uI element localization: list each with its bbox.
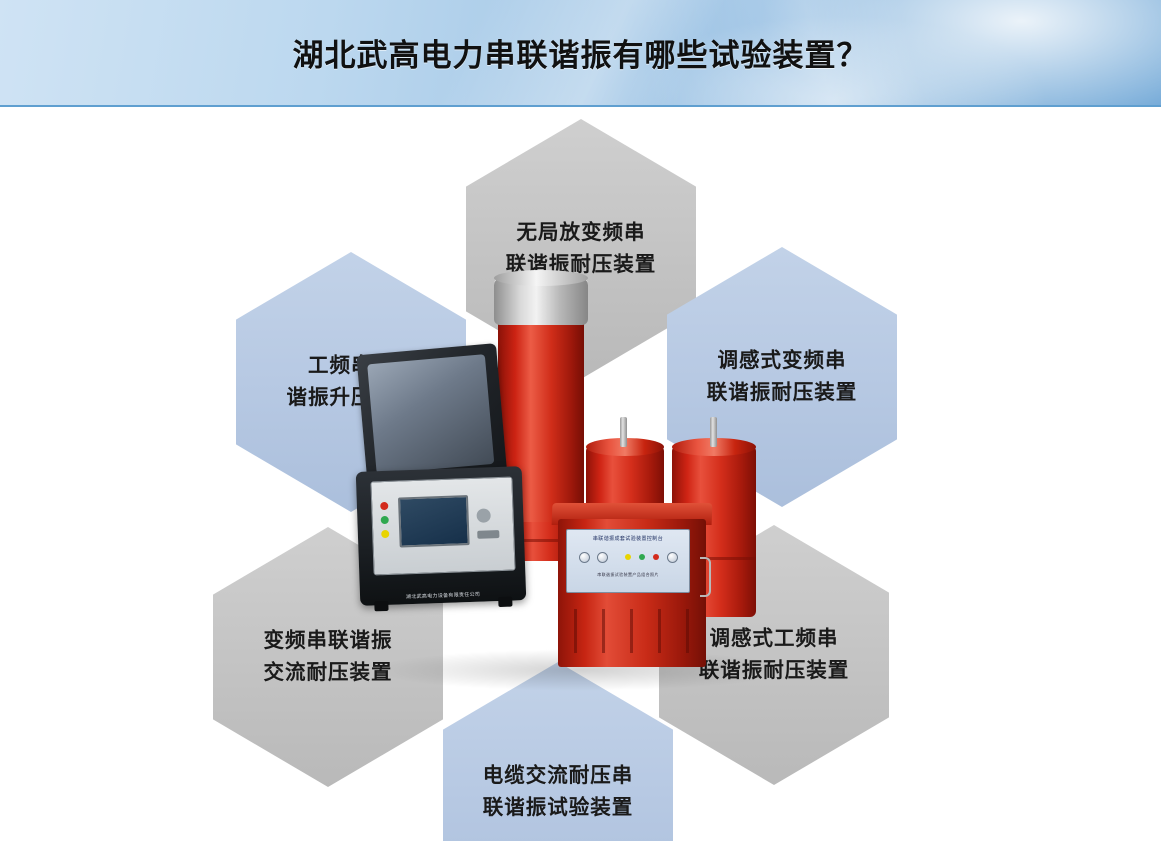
- reactor-rod-3: [710, 417, 717, 447]
- panel-led-yellow: [625, 554, 631, 560]
- cabinet-vent-2: [602, 609, 605, 653]
- cabinet-vent-3: [630, 609, 633, 653]
- cabinet-vent-5: [686, 609, 689, 653]
- case-foot-right: [498, 597, 512, 607]
- instrument-dial[interactable]: [476, 508, 490, 522]
- panel-knob-right[interactable]: [667, 552, 678, 563]
- product-photo: 串联谐振成套试验装置控制台 串联谐振试验装置产品组合照片: [330, 257, 830, 727]
- reactor-rod-2: [620, 417, 627, 447]
- hex-node-top-line1: 无局放变频串: [517, 217, 646, 249]
- slide-page: 湖北武高电力串联谐振有哪些试验装置？ 无局放变频串 联谐振耐压装置 工频串联 谐…: [0, 0, 1161, 841]
- hex-node-bottom-line1: 电缆交流耐压串: [483, 760, 634, 792]
- instrument-screen: [398, 495, 470, 547]
- header-banner: 湖北武高电力串联谐振有哪些试验装置？: [0, 0, 1161, 107]
- cabinet-handle-right[interactable]: [700, 557, 711, 597]
- instrument-case-lid-inner: [367, 354, 494, 474]
- control-panel-sublabel: 串联谐振试验装置产品组合照片: [567, 572, 689, 578]
- cabinet-vents: [568, 609, 696, 653]
- page-title: 湖北武高电力串联谐振有哪些试验装置？: [0, 30, 1161, 75]
- panel-knob-left[interactable]: [579, 552, 590, 563]
- instrument-button-yellow[interactable]: [381, 530, 389, 538]
- diagram-stage: 无局放变频串 联谐振耐压装置 工频串联 谐振升压装置 调感式变频串 联谐振耐压装…: [0, 107, 1161, 841]
- instrument-port[interactable]: [477, 530, 499, 539]
- instrument-button-red[interactable]: [380, 502, 388, 510]
- case-foot-left: [374, 601, 388, 611]
- control-cabinet-panel[interactable]: 串联谐振成套试验装置控制台 串联谐振试验装置产品组合照片: [566, 529, 690, 593]
- instrument-button-green[interactable]: [381, 516, 389, 524]
- cabinet-vent-1: [574, 609, 577, 653]
- instrument-control-face[interactable]: [370, 477, 515, 576]
- panel-led-green: [639, 554, 645, 560]
- hv-transformer-cap-top: [494, 270, 588, 286]
- panel-knob-mid[interactable]: [597, 552, 608, 563]
- hv-transformer-cap: [494, 275, 588, 325]
- panel-led-red: [653, 554, 659, 560]
- control-panel-label: 串联谐振成套试验装置控制台: [567, 535, 689, 542]
- hex-node-bottom-line2: 联谐振试验装置: [483, 792, 634, 824]
- cabinet-vent-4: [658, 609, 661, 653]
